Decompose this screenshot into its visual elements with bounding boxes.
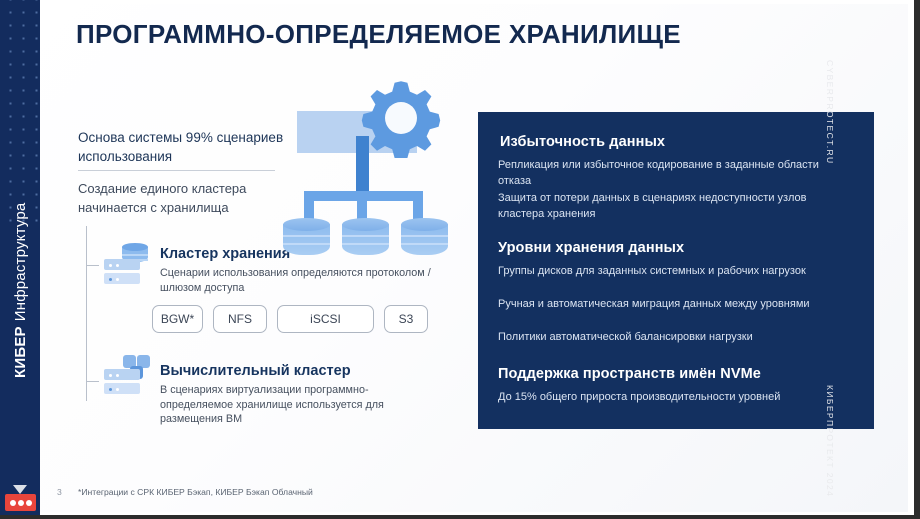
database-node-3-icon <box>401 218 448 259</box>
chip-iscsi[interactable]: iSCSI <box>277 305 374 333</box>
storage-cluster-icon <box>104 243 152 285</box>
slide: КИБЕР Инфраструктура ПРОГРАММНО-ОПРЕДЕЛЯ… <box>0 0 920 519</box>
logo-dot-1 <box>10 500 16 506</box>
chip-nfs[interactable]: NFS <box>213 305 267 333</box>
lead-statement: Основа системы 99% сценариев использован… <box>78 128 293 166</box>
section-line-tiers-1: Группы дисков для заданных системных и р… <box>498 264 828 280</box>
frame-edge-bottom <box>0 515 920 519</box>
bracket-tick-storage <box>86 265 99 266</box>
section-line-tiers-2: Ручная и автоматическая миграция данных … <box>498 297 843 313</box>
logo-dot-2 <box>18 500 24 506</box>
watermark-top: CYBERPROTECT.RU <box>825 60 835 165</box>
logo-dot-3 <box>26 500 32 506</box>
arrow-down-icon <box>13 485 27 494</box>
compute-cluster-title: Вычислительный кластер <box>160 363 351 379</box>
frame-edge-right <box>914 0 920 519</box>
compute-cluster-desc: В сценариях виртуализации программно-опр… <box>160 383 395 427</box>
features-panel: Избыточность данных Репликация или избыт… <box>478 112 874 429</box>
brand-vertical-label: КИБЕР Инфраструктура <box>0 156 40 378</box>
database-node-2-icon <box>342 218 389 259</box>
server-rack-icon-bottom <box>104 383 140 394</box>
section-title-redundancy: Избыточность данных <box>500 134 665 150</box>
section-line-redundancy-2: Защита от потери данных в сценариях недо… <box>498 191 843 222</box>
server-rack-icon-bottom <box>104 273 140 284</box>
database-node-1-icon <box>283 218 330 259</box>
footnote: *Интеграции с СРК КИБЕР Бэкап, КИБЕР Бэк… <box>78 487 313 497</box>
page-number: 3 <box>57 487 62 497</box>
watermark-bottom: КИБЕРПРОТЕКТ 2024 <box>825 385 835 497</box>
brand-bold-text: КИБЕР <box>12 326 29 378</box>
divider-rule <box>78 170 275 171</box>
section-line-redundancy-1: Репликация или избыточное кодирование в … <box>498 158 838 189</box>
chip-s3[interactable]: S3 <box>384 305 428 333</box>
section-line-tiers-3: Политики автоматической балансировки наг… <box>498 330 848 346</box>
section-title-tiers: Уровни хранения данных <box>498 240 684 256</box>
bracket-tick-compute <box>86 381 99 382</box>
storage-cluster-title: Кластер хранения <box>160 246 290 262</box>
compute-cluster-icon <box>104 355 152 399</box>
server-rack-icon-top <box>104 369 140 380</box>
server-rack-icon-top <box>104 259 140 270</box>
protocol-chip-group: BGW* NFS iSCSI S3 <box>152 305 428 333</box>
sds-architecture-illustration <box>283 78 453 250</box>
section-title-nvme: Поддержка пространств имён NVMe <box>498 366 761 382</box>
chip-bgw[interactable]: BGW* <box>152 305 203 333</box>
storage-cluster-desc: Сценарии использования определяются прот… <box>160 266 460 295</box>
section-line-nvme-1: До 15% общего прироста производительност… <box>498 390 853 406</box>
page-title: ПРОГРАММНО-ОПРЕДЕЛЯЕМОЕ ХРАНИЛИЩЕ <box>76 19 681 50</box>
gear-icon <box>361 78 441 158</box>
connector-vertical-main <box>356 136 369 191</box>
left-sidebar: КИБЕР Инфраструктура <box>0 0 40 519</box>
sub-statement: Создание единого кластера начинается с х… <box>78 179 298 217</box>
brand-thin-text: Инфраструктура <box>12 203 29 322</box>
cyberprotect-logo-icon <box>5 494 36 511</box>
